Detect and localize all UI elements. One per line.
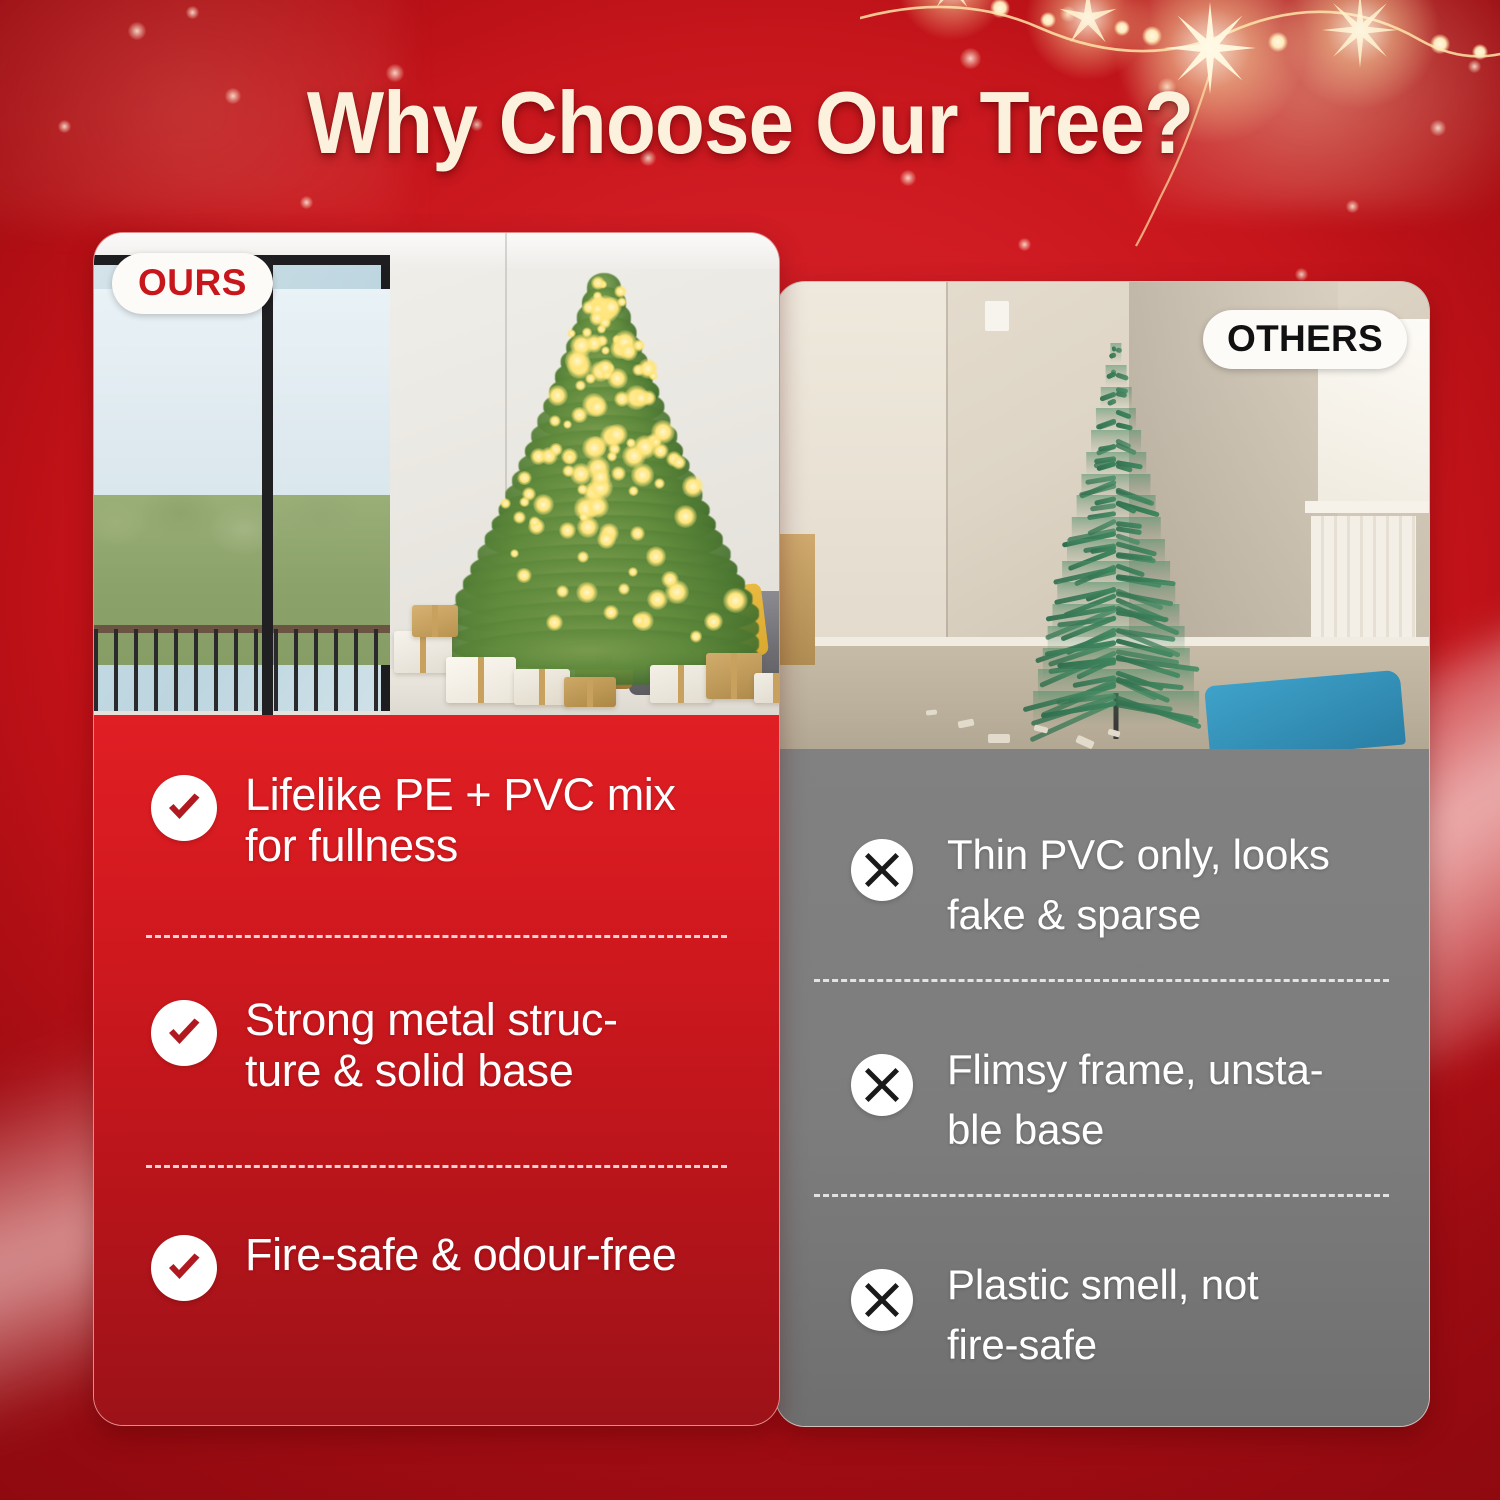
tree-light-bulb <box>570 334 593 357</box>
tree-light-bulb <box>591 276 605 290</box>
gift-ribbon <box>539 669 545 705</box>
others-comparison-card: OTHERS Thin PVC only, looksfake & sparse… <box>775 281 1430 1427</box>
tree-light-bulb <box>674 505 697 528</box>
ours-feature-list: Lifelike PE + PVC mixfor fullnessStrong … <box>94 715 779 1425</box>
tree-light-bulb <box>646 546 667 567</box>
gift-box <box>514 669 570 705</box>
tree-light-bulb <box>690 630 703 643</box>
gift-box <box>394 631 452 673</box>
others-badge: OTHERS <box>1203 310 1407 369</box>
feature-divider <box>146 935 727 938</box>
others-feature-item: Thin PVC only, looksfake & sparse <box>851 839 1391 944</box>
tree-light-bulb <box>601 346 610 355</box>
tree-light-bulb <box>607 451 618 462</box>
others-feature-panel: Thin PVC only, looksfake & sparseFlimsy … <box>776 749 1429 1426</box>
tree-light-bulb <box>601 297 621 317</box>
tree-light-bulb <box>576 582 598 604</box>
gift-box <box>564 677 616 707</box>
feature-line: for fullness <box>245 820 676 871</box>
cross-icon <box>862 850 902 890</box>
tree-light-bulb <box>611 466 626 481</box>
ours-product-photo: OURS <box>94 233 779 715</box>
check-icon-badge <box>151 1000 217 1066</box>
tree-light-bulb <box>632 613 646 627</box>
sparse-pvc-tree <box>1011 339 1221 739</box>
sparse-foliage <box>1101 387 1132 409</box>
others-feature-text: Thin PVC only, looksfake & sparse <box>947 825 1330 944</box>
feature-line: fake & sparse <box>947 885 1330 945</box>
tree-light-bulb <box>665 580 689 604</box>
ours-badge: OURS <box>112 253 273 314</box>
balcony-door <box>94 259 390 715</box>
tree-light-bulb <box>704 612 723 631</box>
tree-light-bulb <box>579 512 589 522</box>
feature-line: Thin PVC only, looks <box>947 825 1330 885</box>
tree-light-bulb <box>563 451 576 464</box>
check-icon-badge <box>151 775 217 841</box>
cross-icon-badge <box>851 839 913 901</box>
tree-light-bulb <box>628 567 638 577</box>
gift-ribbon <box>678 665 684 703</box>
feature-line: ble base <box>947 1100 1323 1160</box>
tree-light-bulb <box>682 475 704 497</box>
tree-light-bulb <box>587 397 607 417</box>
tree-light-bulb <box>590 467 611 488</box>
check-icon <box>162 1246 206 1290</box>
tree-light-bulb <box>546 614 563 631</box>
tree-light-bulb <box>723 588 747 612</box>
others-feature-text: Flimsy frame, unsta-ble base <box>947 1040 1323 1159</box>
ours-feature-text: Fire-safe & odour-free <box>245 1229 676 1280</box>
tree-light-bulb <box>562 465 575 478</box>
gift-ribbon <box>478 657 484 703</box>
tree-light-bulb <box>533 494 553 514</box>
check-icon <box>162 786 206 830</box>
gift-box <box>754 673 779 703</box>
sparse-foliage <box>1033 691 1199 725</box>
feature-divider <box>146 1165 727 1168</box>
cross-icon <box>862 1280 902 1320</box>
tree-light-bulb <box>510 549 519 558</box>
tree-light-bulb <box>549 443 563 457</box>
feature-line: Strong metal struc- <box>245 994 618 1045</box>
others-feature-item: Flimsy frame, unsta-ble base <box>851 1054 1391 1159</box>
cross-icon-badge <box>851 1054 913 1116</box>
feature-line: ture & solid base <box>245 1045 618 1096</box>
tree-light-bulb <box>651 437 661 447</box>
tree-light-bulb <box>516 568 532 584</box>
others-feature-list: Thin PVC only, looksfake & sparseFlimsy … <box>776 749 1429 1426</box>
page-title: Why Choose Our Tree? <box>53 72 1448 174</box>
tree-light-bulb <box>630 526 645 541</box>
tree-light-bulb <box>597 530 616 549</box>
ours-comparison-card: OURS Lifelike PE + PVC mixfor fullnessSt… <box>93 232 780 1426</box>
sparse-foliage <box>1106 365 1127 386</box>
tree-light-bulb <box>603 605 618 620</box>
tree-light-bulb <box>559 522 576 539</box>
gift-ribbon <box>432 605 438 637</box>
feature-line: Lifelike PE + PVC mix <box>245 769 676 820</box>
gift-ribbon <box>731 653 737 699</box>
tree-light-bulb <box>517 471 532 486</box>
tree-light-bulb <box>628 486 638 496</box>
tree-light-bulb <box>575 380 586 391</box>
feature-line: Fire-safe & odour-free <box>245 1229 676 1280</box>
tree-light-bulb <box>529 516 541 528</box>
feature-line: Flimsy frame, unsta- <box>947 1040 1323 1100</box>
ours-feature-text: Strong metal struc-ture & solid base <box>245 994 618 1097</box>
tree-light-bulb <box>632 389 649 406</box>
gift-box <box>446 657 516 703</box>
tree-light-bulb <box>672 455 687 470</box>
tree-light-bulb <box>593 291 603 301</box>
tree-light-bulb <box>563 420 572 429</box>
tree-light-bulb <box>606 424 628 446</box>
tree-light-bulb <box>618 583 629 594</box>
tree-light-bulb <box>549 415 562 428</box>
ours-feature-item: Fire-safe & odour-free <box>151 1235 751 1301</box>
sparse-foliage <box>1086 452 1146 476</box>
tree-light-bulb <box>513 511 526 524</box>
tree-light-bulb <box>654 478 665 489</box>
cross-icon-badge <box>851 1269 913 1331</box>
tree-light-bulb <box>586 495 609 518</box>
gift-ribbon <box>773 673 779 703</box>
gift-ribbon <box>587 677 593 707</box>
cross-icon <box>862 1065 902 1105</box>
tree-light-bulb <box>500 498 512 510</box>
feature-line: Plastic smell, not <box>947 1255 1259 1315</box>
ours-feature-item: Strong metal struc-ture & solid base <box>151 1000 751 1097</box>
tree-light-bulb <box>597 324 607 334</box>
tree-warm-lights <box>449 273 759 683</box>
ours-feature-panel: Lifelike PE + PVC mixfor fullnessStrong … <box>94 715 779 1425</box>
tree-light-bulb <box>622 444 645 467</box>
check-icon-badge <box>151 1235 217 1301</box>
others-product-photo: OTHERS <box>776 282 1429 749</box>
others-feature-text: Plastic smell, notfire-safe <box>947 1255 1259 1374</box>
tree-light-bulb <box>577 551 589 563</box>
feature-line: fire-safe <box>947 1315 1259 1375</box>
tree-light-bulb <box>647 589 668 610</box>
pre-lit-christmas-tree <box>449 273 759 683</box>
sparse-foliage <box>1096 408 1136 431</box>
ours-feature-item: Lifelike PE + PVC mixfor fullness <box>151 775 751 872</box>
tree-light-bulb <box>571 407 587 423</box>
balcony-railing <box>94 629 390 715</box>
light-switch <box>985 301 1009 331</box>
tree-light-bulb <box>649 371 658 380</box>
gift-box <box>650 665 712 703</box>
tree-light-bulb <box>614 285 627 298</box>
ours-feature-text: Lifelike PE + PVC mixfor fullness <box>245 769 676 872</box>
tree-light-bulb <box>619 342 638 361</box>
debris-piece <box>988 734 1010 743</box>
tree-light-bulb <box>556 585 569 598</box>
feature-divider <box>814 1194 1389 1197</box>
tree-light-bulb <box>547 385 568 406</box>
gift-box <box>412 605 458 637</box>
tree-light-bulb <box>585 373 596 384</box>
check-icon <box>162 1011 206 1055</box>
gift-ribbon <box>420 631 426 673</box>
tree-light-bulb <box>597 359 614 376</box>
sparse-foliage <box>1091 430 1141 454</box>
sparse-foliage <box>1110 343 1121 363</box>
others-feature-item: Plastic smell, notfire-safe <box>851 1269 1391 1374</box>
feature-divider <box>814 979 1389 982</box>
